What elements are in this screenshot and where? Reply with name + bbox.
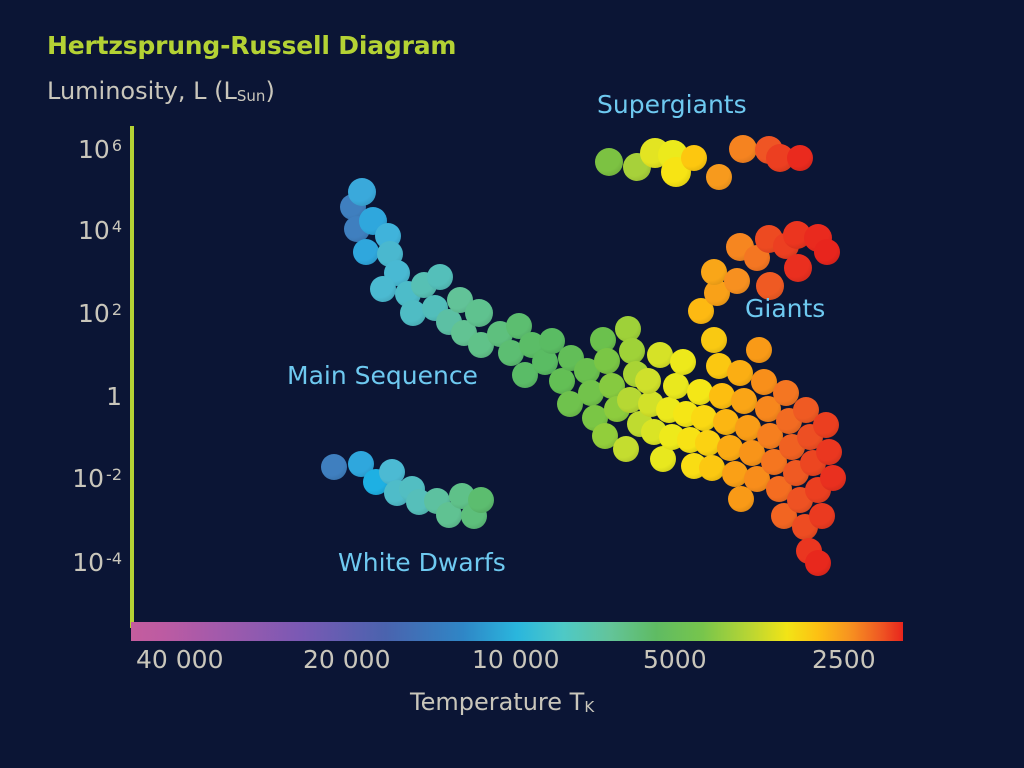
- x-tick-label: 20 000: [303, 645, 390, 674]
- x-tick-label: 2500: [812, 645, 876, 674]
- star-point: [348, 178, 376, 206]
- y-tick-label: 102: [78, 299, 122, 328]
- y-tick-mantissa: 10: [72, 464, 104, 493]
- y-tick-exponent: -4: [106, 549, 122, 568]
- annotation-main-sequence: Main Sequence: [287, 361, 478, 390]
- star-point: [746, 337, 772, 363]
- y-tick-mantissa: 1: [106, 382, 122, 411]
- temperature-colorbar: [131, 622, 903, 641]
- star-point: [353, 239, 379, 265]
- star-point: [729, 135, 757, 163]
- y-tick-mantissa: 10: [78, 216, 110, 245]
- x-axis-ticks: 40 00020 00010 00050002500: [0, 645, 1024, 685]
- star-point: [787, 145, 813, 171]
- x-axis-label: Temperature TK: [410, 688, 594, 716]
- annotation-white-dwarfs: White Dwarfs: [338, 548, 506, 577]
- star-point: [813, 412, 839, 438]
- y-axis-line: [130, 126, 134, 628]
- star-point: [731, 388, 757, 414]
- star-point: [647, 342, 673, 368]
- y-tick-exponent: -2: [106, 465, 122, 484]
- star-point: [805, 550, 831, 576]
- star-point: [820, 465, 846, 491]
- x-tick-label: 5000: [643, 645, 707, 674]
- star-point: [670, 349, 696, 375]
- star-point: [701, 327, 727, 353]
- star-point: [613, 436, 639, 462]
- x-tick-label: 10 000: [472, 645, 559, 674]
- star-point: [816, 439, 842, 465]
- star-point: [619, 338, 645, 364]
- star-point: [468, 487, 494, 513]
- hr-diagram-canvas: Hertzsprung-Russell Diagram Luminosity, …: [0, 0, 1024, 768]
- y-tick-mantissa: 10: [78, 135, 110, 164]
- star-point: [594, 348, 620, 374]
- y-tick-mantissa: 10: [78, 299, 110, 328]
- star-point: [784, 254, 812, 282]
- star-point: [814, 239, 840, 265]
- y-axis-label-sub: Sun: [237, 87, 266, 105]
- star-point: [427, 264, 453, 290]
- star-point: [595, 148, 623, 176]
- star-point: [681, 145, 707, 171]
- y-tick-exponent: 6: [112, 136, 122, 155]
- star-point: [321, 454, 347, 480]
- y-tick-mantissa: 10: [72, 548, 104, 577]
- y-tick-label: 10-2: [72, 464, 122, 493]
- y-tick-label: 10-4: [72, 548, 122, 577]
- star-point: [706, 164, 732, 190]
- x-axis-label-sub: K: [584, 698, 594, 716]
- x-axis-label-main: Temperature T: [410, 688, 584, 716]
- y-tick-label: 1: [106, 382, 122, 411]
- x-tick-label: 40 000: [136, 645, 223, 674]
- annotation-supergiants: Supergiants: [597, 90, 747, 119]
- y-axis-label-close: ): [265, 77, 274, 105]
- y-tick-exponent: 2: [112, 300, 122, 319]
- star-point: [635, 368, 661, 394]
- y-tick-exponent: 4: [112, 217, 122, 236]
- y-tick-label: 106: [78, 135, 122, 164]
- star-point: [727, 360, 753, 386]
- star-point: [699, 455, 725, 481]
- star-point: [370, 276, 396, 302]
- star-point: [724, 268, 750, 294]
- y-tick-label: 104: [78, 216, 122, 245]
- annotation-giants: Giants: [745, 294, 825, 323]
- star-point: [809, 503, 835, 529]
- star-point: [663, 373, 689, 399]
- star-point: [465, 299, 493, 327]
